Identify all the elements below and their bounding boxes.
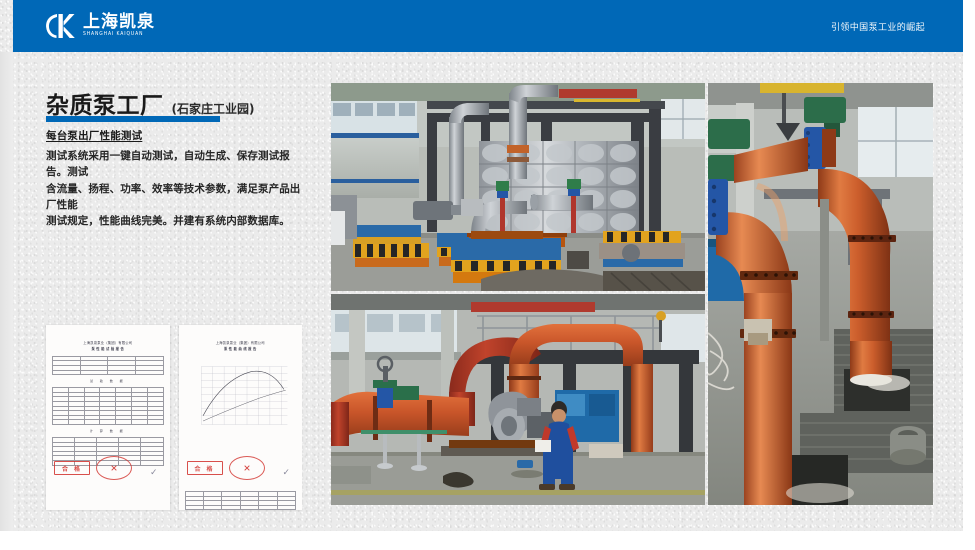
description-line: 测试规定，性能曲线完美。并建有系统内部数据库。 [46, 213, 302, 229]
document-signature: ✓ [282, 468, 290, 478]
logo-english-text: SHANGHAI KAIQUAN [83, 33, 155, 38]
title-underline-rule [46, 116, 220, 122]
photo-collage [331, 83, 933, 505]
header-bar: 上海凯泉 SHANGHAI KAIQUAN 引领中国泵工业的崛起 [13, 0, 963, 52]
photo-pump-test-rig-worker[interactable] [331, 294, 705, 505]
company-seal-stamp [96, 456, 132, 480]
document-signature: ✓ [150, 468, 158, 478]
qualified-stamp: 合 格 [187, 461, 223, 475]
document-stamps: 合 格 [54, 456, 132, 480]
document-test-report[interactable]: 上海凯泉泵业（集团）有限公司 泵 性 能 试 验 报 告 试 验 数 据 [46, 325, 170, 510]
document-section-label: 计 算 数 据 [52, 429, 164, 433]
table-row [53, 370, 164, 375]
document-company-name: 上海凯泉泵业（集团）有限公司 [185, 341, 297, 346]
company-seal-stamp [229, 456, 265, 480]
kaiquan-k-logo-icon [44, 12, 78, 40]
brand-logo[interactable]: 上海凯泉 SHANGHAI KAIQUAN [44, 11, 155, 41]
table-row [53, 420, 164, 425]
page-title-main: 杂质泵工厂 [46, 86, 164, 120]
photo-orange-elbow-piping[interactable] [708, 83, 933, 505]
document-company-name: 上海凯泉泵业（集团）有限公司 [52, 341, 164, 346]
description-block: 每台泵出厂性能测试 测试系统采用一键自动测试，自动生成、保存测试报告。测试 含流… [46, 128, 302, 229]
description-line: 测试系统采用一键自动测试，自动生成、保存测试报告。测试 [46, 148, 302, 181]
page-title: 杂质泵工厂 (石家庄工业园) [46, 86, 254, 120]
document-summary-table [185, 491, 297, 510]
document-header-table [52, 356, 164, 375]
description-line: 含流量、扬程、功率、效率等技术参数，满足泵产品出厂性能 [46, 181, 302, 214]
logo-chinese-text: 上海凯泉 [83, 14, 155, 31]
document-data-table-1 [52, 387, 164, 425]
photo-test-facility-tanks[interactable] [331, 83, 705, 291]
slide-left-edge [0, 52, 13, 531]
document-thumbnails: 上海凯泉泵业（集团）有限公司 泵 性 能 试 验 报 告 试 验 数 据 [46, 325, 302, 510]
description-body: 测试系统采用一键自动测试，自动生成、保存测试报告。测试 含流量、扬程、功率、效率… [46, 148, 302, 229]
document-performance-curve[interactable]: 上海凯泉泵业（集团）有限公司 泵 性 能 曲 线 报 告 [179, 325, 303, 510]
document-title: 泵 性 能 曲 线 报 告 [185, 347, 297, 352]
page-title-sub: (石家庄工业园) [172, 100, 255, 117]
document-stamps: 合 格 [187, 456, 265, 480]
document-section-label: 试 验 数 据 [52, 379, 164, 383]
description-heading: 每台泵出厂性能测试 [46, 128, 302, 143]
performance-curve-chart [189, 363, 295, 441]
qualified-stamp: 合 格 [54, 461, 90, 475]
header-slogan: 引领中国泵工业的崛起 [831, 0, 925, 52]
slide: 上海凯泉 SHANGHAI KAIQUAN 引领中国泵工业的崛起 杂质泵工厂 (… [0, 0, 963, 531]
document-title: 泵 性 能 试 验 报 告 [52, 347, 164, 352]
